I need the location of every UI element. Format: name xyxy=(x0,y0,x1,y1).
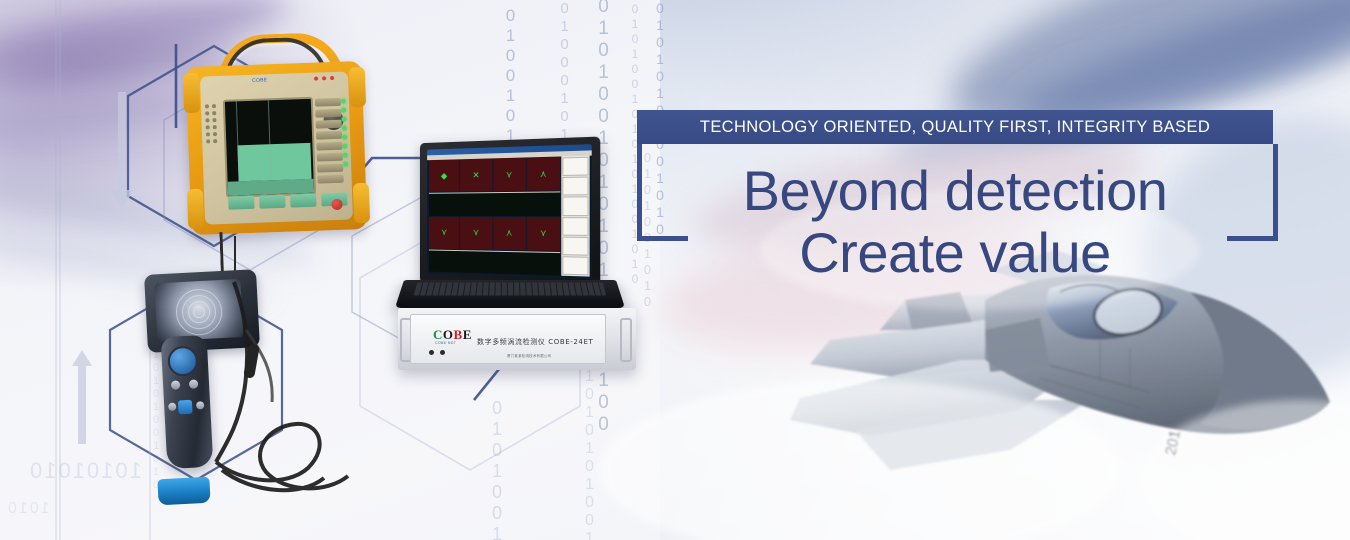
headline-line-1: Beyond detection xyxy=(743,159,1168,222)
rack-instrument: COBE COBE NDT 数字多频涡流检测仪 COBE-24ET 厦门某某检测… xyxy=(398,308,636,370)
hero-banner: 201 xyxy=(0,0,1350,540)
headline-line-2: Create value xyxy=(637,222,1273,284)
tagline-text: TECHNOLOGY ORIENTED, QUALITY FIRST, INTE… xyxy=(700,118,1210,137)
channel-settings-panel[interactable] xyxy=(561,156,589,277)
signal-plot-grid: ◆ ✕ ⋎ ⋏ ⋎ ⋎ ⋏ ⋎ xyxy=(429,156,560,275)
rack-front-panel: COBE COBE NDT 数字多频涡流检测仪 COBE-24ET 厦门某某检测… xyxy=(410,314,606,364)
tagline-bar: TECHNOLOGY ORIENTED, QUALITY FIRST, INTE… xyxy=(637,110,1273,144)
instrument-model-label: 数字多频涡流检测仪 COBE-24ET xyxy=(477,337,593,347)
laptop-lid: ◆ ✕ ⋎ ⋏ ⋎ ⋎ ⋏ ⋎ xyxy=(420,137,600,290)
rack-handle-right xyxy=(620,318,632,362)
rack-indicators xyxy=(429,350,445,355)
eddy-current-test-system[interactable]: ◆ ✕ ⋎ ⋏ ⋎ ⋎ ⋏ ⋎ xyxy=(398,140,636,355)
instrument-company-label: 厦门某某检测技术有限公司 xyxy=(507,353,551,358)
headline: Beyond detection Create value xyxy=(637,160,1273,283)
laptop-keyboard-base[interactable] xyxy=(395,280,625,308)
laptop-screen: ◆ ✕ ⋎ ⋏ ⋎ ⋎ ⋏ ⋎ xyxy=(427,144,592,279)
cobe-logo-subtext: COBE NDT xyxy=(435,341,456,345)
keyboard[interactable] xyxy=(414,282,607,295)
